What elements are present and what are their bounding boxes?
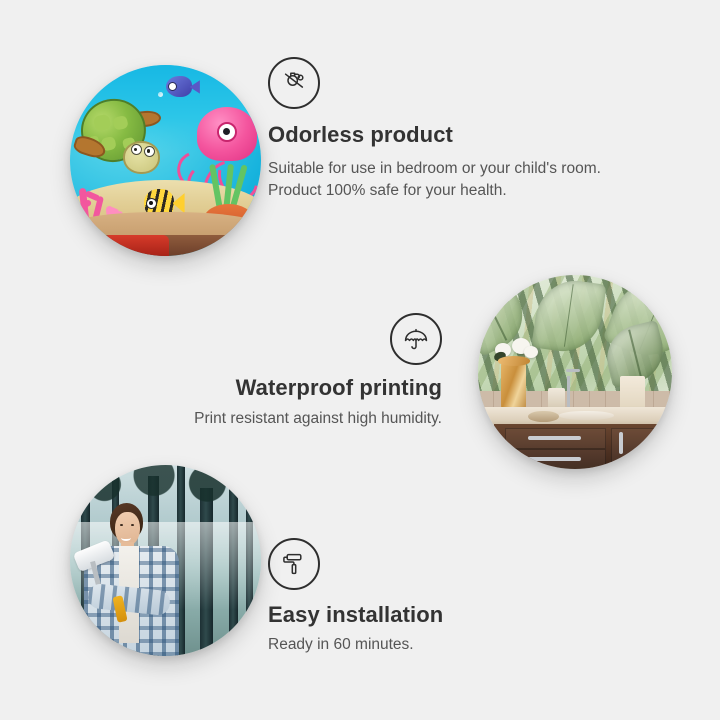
paint-roller-icon bbox=[268, 538, 320, 590]
paint-roller-held bbox=[75, 546, 113, 584]
woman-figure bbox=[81, 499, 192, 656]
feature-waterproof-printing: Waterproof printing Print resistant agai… bbox=[130, 313, 442, 430]
bathroom-scene bbox=[478, 275, 672, 469]
door-pull bbox=[619, 432, 623, 454]
icon-wrapper bbox=[130, 313, 442, 365]
turtle-eye bbox=[144, 146, 155, 157]
feature-odorless-product: Odorless product Suitable for use in bed… bbox=[268, 57, 608, 202]
forest-scene bbox=[70, 465, 261, 656]
fish-tail bbox=[173, 193, 185, 213]
umbrella-icon bbox=[390, 313, 442, 365]
drawer-pull bbox=[528, 436, 581, 440]
feature-easy-installation: Easy installation Ready in 60 minutes. bbox=[268, 538, 598, 656]
soap-dispenser bbox=[548, 388, 565, 409]
sea-foreground-strip bbox=[70, 235, 261, 256]
drawer-pull bbox=[528, 457, 581, 461]
feature-title: Easy installation bbox=[268, 601, 598, 629]
woman-with-paint-roller-image[interactable] bbox=[70, 465, 261, 656]
no-perfume-icon bbox=[268, 57, 320, 109]
underwater-scene bbox=[70, 65, 261, 256]
feature-description: Ready in 60 minutes. bbox=[268, 634, 598, 656]
feature-panel: Odorless product Suitable for use in bed… bbox=[0, 0, 720, 720]
underwater-cartoon-mural-image[interactable] bbox=[70, 65, 261, 256]
bubble-icon bbox=[158, 92, 163, 97]
leaf-shape bbox=[532, 276, 607, 356]
blue-fish-icon bbox=[166, 76, 200, 97]
feature-description: Suitable for use in bedroom or your chil… bbox=[268, 158, 608, 203]
wooden-vanity-cabinet bbox=[494, 424, 672, 469]
octopus-eye bbox=[217, 122, 237, 142]
feature-title: Odorless product bbox=[268, 121, 608, 149]
faucet-icon bbox=[567, 376, 570, 409]
feature-title: Waterproof printing bbox=[130, 374, 442, 402]
bathroom-tropical-wallpaper-image[interactable] bbox=[478, 275, 672, 469]
turtle-eye bbox=[131, 144, 142, 155]
feature-description: Print resistant against high humidity. bbox=[130, 408, 442, 430]
octopus-head bbox=[197, 107, 258, 161]
